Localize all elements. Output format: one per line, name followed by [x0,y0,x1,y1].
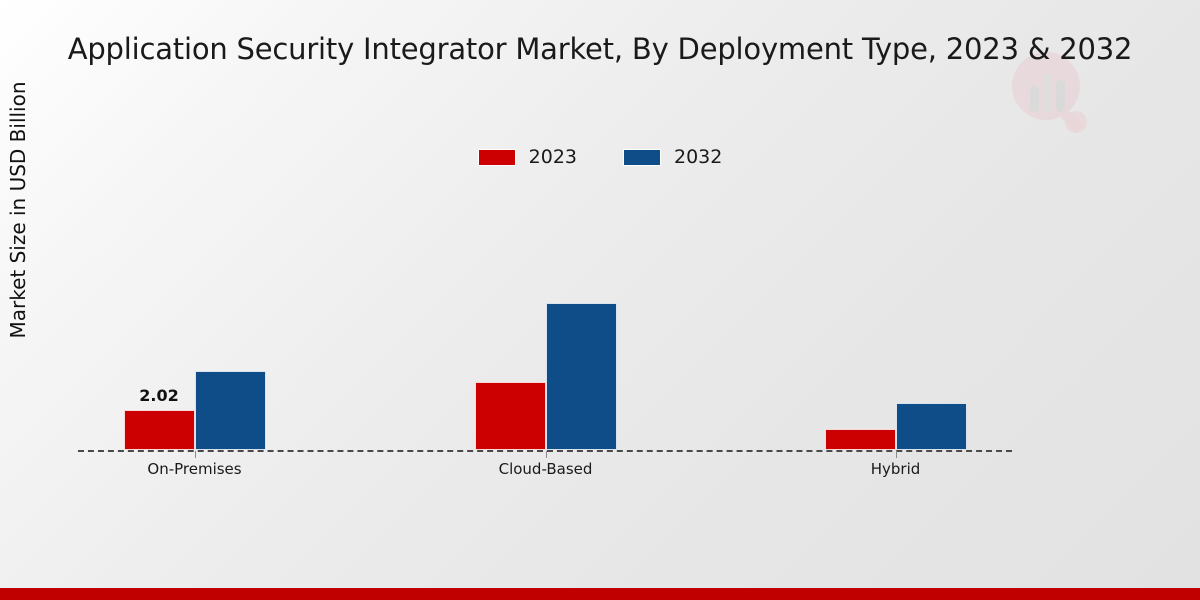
plot-area: 2.02 On-PremisesCloud-BasedHybrid [0,0,1200,560]
x-axis-tick [195,451,196,458]
bar-hybrid-2032 [896,403,967,450]
bar-on-premises-2023 [124,410,195,450]
category-label-hybrid: Hybrid [871,460,921,478]
bar-cloud-based-2032 [546,303,617,450]
bar-cloud-based-2023 [475,382,546,450]
x-axis-tick [896,451,897,458]
bar-value-label-on-premises-2023: 2.02 [139,386,178,405]
category-label-cloud-based: Cloud-Based [499,460,593,478]
bar-on-premises-2032 [195,371,266,450]
chart-container: Application Security Integrator Market, … [0,0,1200,600]
x-axis-tick [546,451,547,458]
bar-hybrid-2023 [825,429,896,450]
category-label-on-premises: On-Premises [147,460,241,478]
bottom-accent-bar [0,588,1200,600]
